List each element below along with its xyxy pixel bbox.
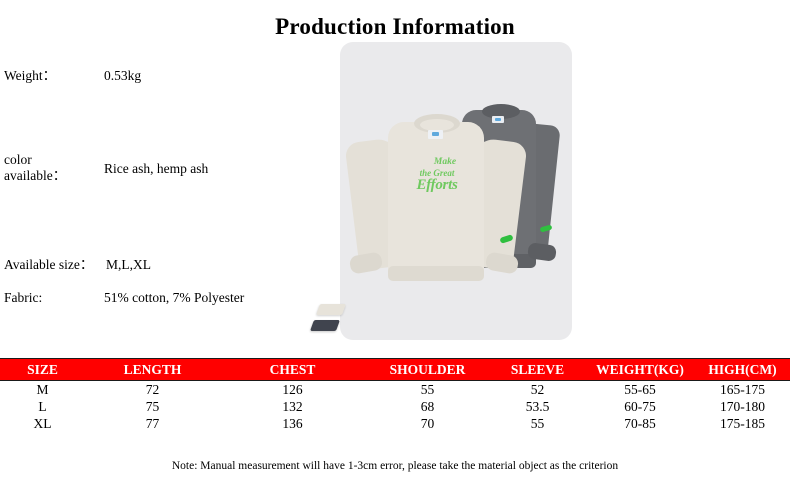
cream-sweatshirt-body <box>388 122 484 280</box>
color-swatch-rice-ash <box>316 304 346 315</box>
size-chart-table: SIZE LENGTH CHEST SHOULDER SLEEVE WEIGHT… <box>0 358 790 432</box>
graphic-line-3: Efforts <box>400 178 474 193</box>
spec-value-available-size: M,L,XL <box>106 257 332 273</box>
column-header-shoulder: SHOULDER <box>365 359 490 381</box>
cell-sleeve: 53.5 <box>490 398 585 415</box>
cream-sweatshirt-left-cuff <box>349 251 384 274</box>
graphic-line-1: Make <box>416 158 474 168</box>
cream-sweatshirt-neck-tag <box>428 130 443 139</box>
column-header-high: HIGH(CM) <box>695 359 790 381</box>
cream-sweatshirt-graphic: Make the Great Efforts <box>400 158 474 196</box>
spec-label-available-size: Available size： <box>4 257 100 273</box>
column-header-sleeve: SLEEVE <box>490 359 585 381</box>
table-header-row: SIZE LENGTH CHEST SHOULDER SLEEVE WEIGHT… <box>0 359 790 381</box>
column-header-size: SIZE <box>0 359 85 381</box>
cell-chest: 126 <box>220 381 365 399</box>
product-photo: Efforts Make the Great Efforts <box>340 42 572 340</box>
cream-sweatshirt-hem <box>388 266 484 281</box>
spec-value-color: Rice ash, hemp ash <box>104 161 330 177</box>
cell-chest: 132 <box>220 398 365 415</box>
cell-size: XL <box>0 415 85 432</box>
spec-value-fabric: 51% cotton, 7% Polyester <box>104 290 330 306</box>
cell-chest: 136 <box>220 415 365 432</box>
measurement-note: Note: Manual measurement will have 1-3cm… <box>0 460 790 472</box>
color-swatch-hemp-ash <box>310 320 340 331</box>
cell-size: L <box>0 398 85 415</box>
cell-high: 175-185 <box>695 415 790 432</box>
cell-weight: 70-85 <box>585 415 695 432</box>
table-row: M 72 126 55 52 55-65 165-175 <box>0 381 790 399</box>
cell-weight: 55-65 <box>585 381 695 399</box>
cell-high: 170-180 <box>695 398 790 415</box>
cell-sleeve: 55 <box>490 415 585 432</box>
spec-label-fabric: Fabric: <box>4 290 100 306</box>
cell-high: 165-175 <box>695 381 790 399</box>
cream-sweatshirt: Make the Great Efforts <box>348 114 524 302</box>
spec-label-weight: Weight： <box>4 68 100 84</box>
spec-label-color: color available： <box>4 152 100 184</box>
cell-length: 77 <box>85 415 220 432</box>
cream-sweatshirt-right-cuff <box>485 251 520 274</box>
cell-size: M <box>0 381 85 399</box>
page-title: Production Information <box>0 14 790 40</box>
column-header-length: LENGTH <box>85 359 220 381</box>
cell-weight: 60-75 <box>585 398 695 415</box>
spec-value-weight: 0.53kg <box>104 68 330 84</box>
cell-shoulder: 68 <box>365 398 490 415</box>
cell-length: 75 <box>85 398 220 415</box>
column-header-weight: WEIGHT(KG) <box>585 359 695 381</box>
table-row: L 75 132 68 53.5 60-75 170-180 <box>0 398 790 415</box>
table-row: XL 77 136 70 55 70-85 175-185 <box>0 415 790 432</box>
cell-length: 72 <box>85 381 220 399</box>
cell-shoulder: 70 <box>365 415 490 432</box>
column-header-chest: CHEST <box>220 359 365 381</box>
product-image-panel: Efforts Make the Great Efforts <box>340 42 572 340</box>
cell-shoulder: 55 <box>365 381 490 399</box>
cell-sleeve: 52 <box>490 381 585 399</box>
color-swatch-group <box>312 302 354 338</box>
